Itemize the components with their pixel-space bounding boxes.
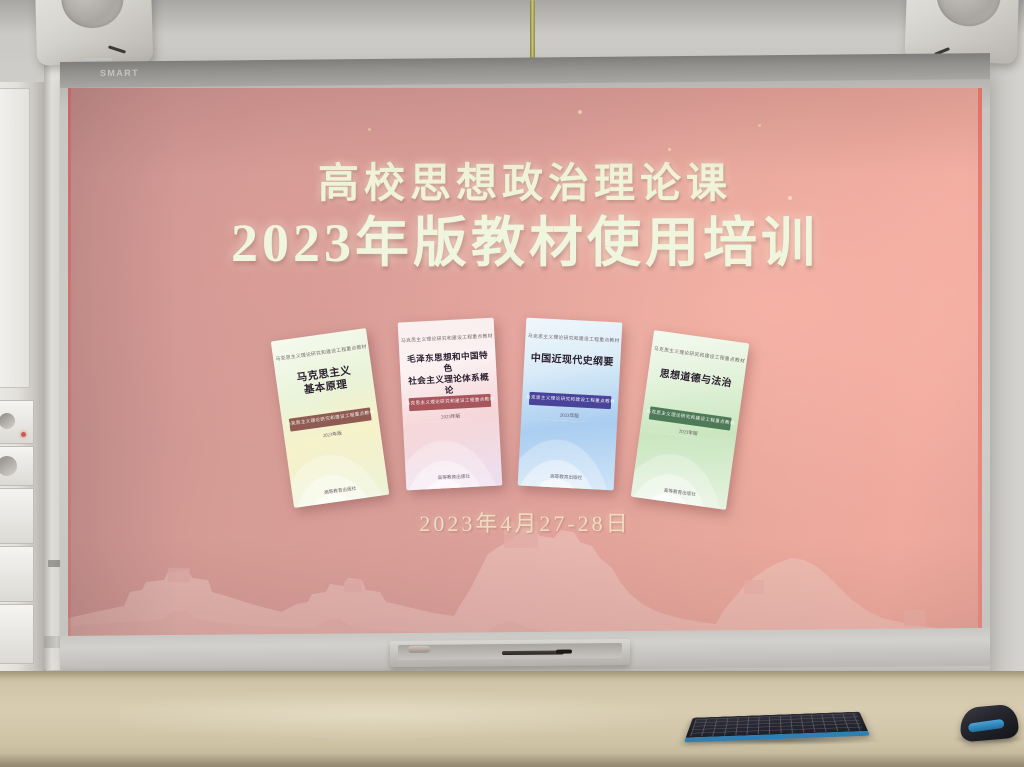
desk — [0, 671, 1024, 767]
cabinet-led-icon — [21, 432, 26, 437]
speaker-cone-icon — [61, 0, 124, 29]
marker-pen-cap[interactable] — [556, 649, 572, 653]
cabinet-slot-4[interactable] — [0, 546, 34, 602]
cabinet-slot-2[interactable] — [0, 446, 34, 486]
projected-slide: 高校思想政治理论课 2023年版教材使用培训 马克思主义理论研究和建设工程重点教… — [68, 88, 982, 636]
screen-vignette — [68, 88, 982, 636]
equipment-cabinet[interactable] — [0, 82, 46, 682]
screen-right-edge — [978, 88, 982, 636]
cabinet-slot-1[interactable] — [0, 400, 34, 444]
smart-brand-logo: SMART — [100, 68, 139, 78]
speaker-cone-icon — [936, 0, 1002, 27]
screen-left-edge — [68, 88, 71, 636]
desk-reflection — [120, 689, 680, 741]
desk-front-shadow — [0, 753, 1024, 767]
smart-whiteboard[interactable]: SMART — [60, 62, 990, 674]
desk-edge — [0, 671, 1024, 678]
hanging-cable — [530, 0, 535, 62]
eraser[interactable] — [408, 646, 430, 653]
pen-tray[interactable] — [390, 639, 630, 667]
wall-speaker-left — [35, 0, 153, 66]
cabinet-door[interactable] — [0, 88, 30, 388]
cabinet-dial-icon[interactable] — [0, 413, 15, 429]
cabinet-disc-icon[interactable] — [0, 456, 17, 476]
whiteboard-surface[interactable]: 高校思想政治理论课 2023年版教材使用培训 马克思主义理论研究和建设工程重点教… — [68, 88, 982, 636]
ceiling-shadow — [0, 0, 1024, 34]
wireless-mouse[interactable] — [959, 704, 1020, 743]
cabinet-slot-3[interactable] — [0, 488, 34, 544]
cabinet-slot-5[interactable] — [0, 604, 34, 664]
classroom-scene: SMART — [0, 0, 1024, 767]
marker-pen[interactable] — [502, 651, 564, 656]
